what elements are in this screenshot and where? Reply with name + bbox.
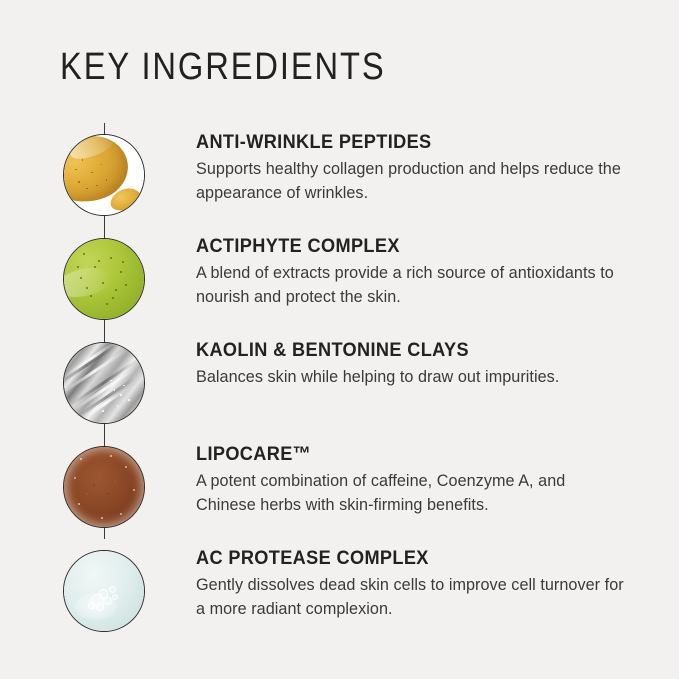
swatch-fill	[64, 135, 144, 215]
gray-clay-swatch	[63, 342, 145, 424]
ingredient-name: LIPOCARE™	[196, 444, 605, 464]
ingredient-text-block: ACTIPHYTE COMPLEX A blend of extracts pr…	[196, 236, 636, 310]
swatch-fill	[64, 447, 144, 527]
ingredient-text-block: ANTI-WRINKLE PEPTIDES Supports healthy c…	[196, 132, 636, 206]
swatch-sheen	[63, 264, 114, 302]
list-item: ANTI-WRINKLE PEPTIDES Supports healthy c…	[0, 123, 679, 227]
swatch-fill	[64, 343, 144, 423]
swatch-fill	[64, 551, 144, 631]
ingredient-list: ANTI-WRINKLE PEPTIDES Supports healthy c…	[0, 0, 679, 679]
ingredient-text-block: LIPOCARE™ A potent combination of caffei…	[196, 444, 636, 518]
swatch-fill	[64, 239, 144, 319]
ingredient-description: Balances skin while helping to draw out …	[196, 366, 626, 390]
ingredients-panel: KEY INGREDIENTS	[0, 0, 679, 679]
green-extract-swatch	[63, 238, 145, 320]
ingredient-description: A potent combination of caffeine, Coenzy…	[196, 470, 626, 518]
ingredient-text-block: AC PROTEASE COMPLEX Gently dissolves dea…	[196, 548, 636, 622]
ingredient-name: ANTI-WRINKLE PEPTIDES	[196, 132, 605, 152]
honey-gel-swatch	[63, 134, 145, 216]
list-item: LIPOCARE™ A potent combination of caffei…	[0, 435, 679, 539]
ingredient-description: A blend of extracts provide a rich sourc…	[196, 262, 626, 310]
ingredient-description: Gently dissolves dead skin cells to impr…	[196, 574, 626, 622]
ingredient-name: KAOLIN & BENTONINE CLAYS	[196, 340, 605, 360]
powder-rim-highlight	[64, 447, 144, 527]
list-item: KAOLIN & BENTONINE CLAYS Balances skin w…	[0, 331, 679, 435]
brown-powder-swatch	[63, 446, 145, 528]
ingredient-name: ACTIPHYTE COMPLEX	[196, 236, 605, 256]
ingredient-text-block: KAOLIN & BENTONINE CLAYS Balances skin w…	[196, 340, 636, 390]
ingredient-name: AC PROTEASE COMPLEX	[196, 548, 605, 568]
list-item: AC PROTEASE COMPLEX Gently dissolves dea…	[0, 539, 679, 643]
list-item: ACTIPHYTE COMPLEX A blend of extracts pr…	[0, 227, 679, 331]
ingredient-description: Supports healthy collagen production and…	[196, 158, 626, 206]
blue-gel-swatch	[63, 550, 145, 632]
